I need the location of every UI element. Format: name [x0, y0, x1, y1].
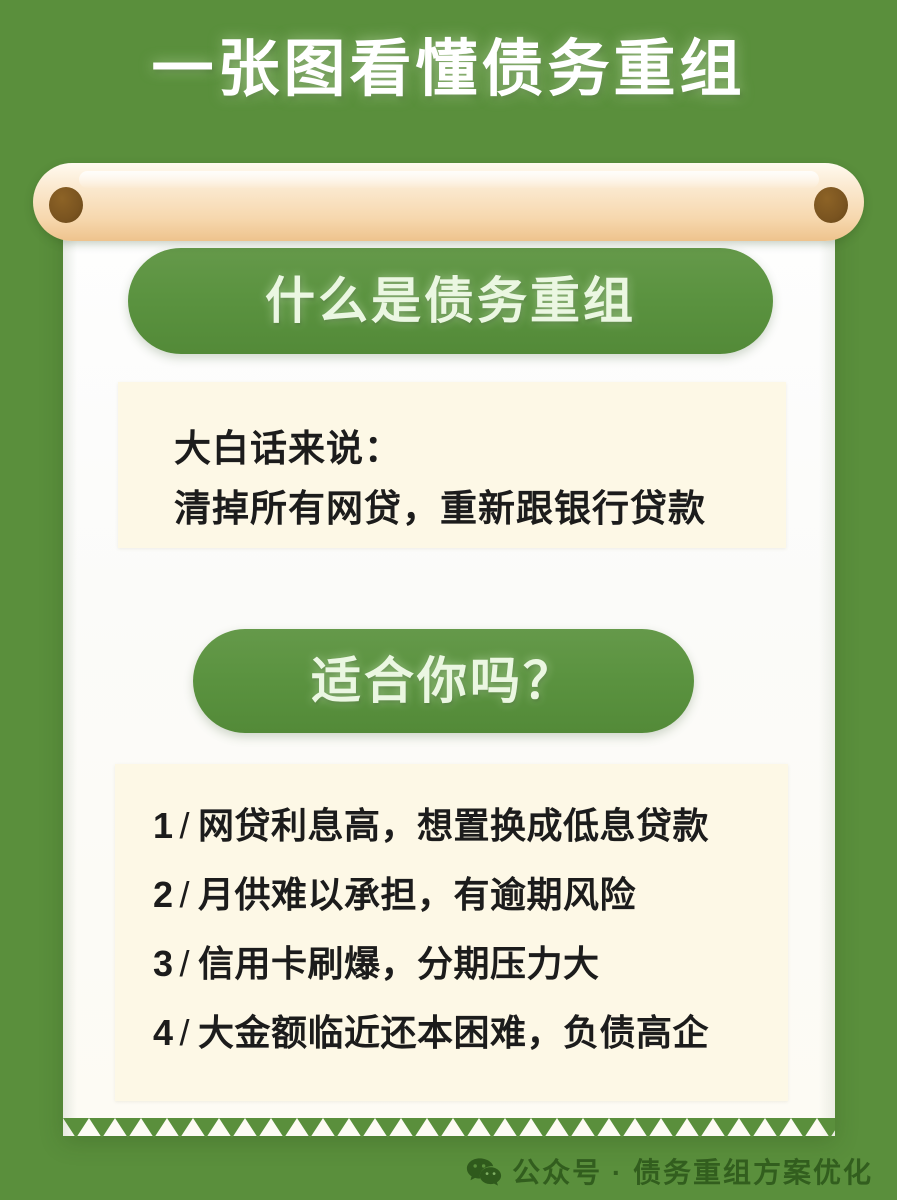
list-item: 2 / 月供难以承担，有逾期风险: [153, 877, 763, 913]
torn-edge-tooth: [505, 1118, 531, 1138]
torn-edge-tooth: [635, 1118, 661, 1138]
torn-edge-tooth: [375, 1118, 401, 1138]
torn-edge-tooth: [661, 1118, 687, 1138]
list-item-number: 4: [153, 1015, 174, 1051]
roller-highlight: [79, 171, 819, 188]
footer-account-name: 公众号 · 债务重组方案优化: [512, 1151, 873, 1191]
torn-edge-tooth: [531, 1118, 557, 1138]
list-item-number: 1: [153, 808, 174, 844]
section-heading-is-it-right-for-you: 适合你吗？: [193, 629, 694, 733]
torn-edge-tooth: [453, 1118, 479, 1138]
torn-edge-tooth: [323, 1118, 349, 1138]
wechat-icon: [466, 1156, 502, 1186]
list-item-number: 2: [153, 877, 174, 913]
torn-edge-tooth: [765, 1118, 791, 1138]
roller-cap-right-icon: [814, 187, 848, 223]
poster-title: 一张图看懂债务重组: [0, 34, 897, 105]
list-item-text: 大金额临近还本困难，负债高企: [198, 1015, 709, 1051]
list-item-number: 3: [153, 946, 174, 982]
torn-edge-tooth: [219, 1118, 245, 1138]
list-item: 1 / 网贷利息高，想置换成低息贷款: [153, 808, 763, 844]
torn-edge-tooth: [63, 1118, 89, 1138]
paper-torn-edge: [63, 1118, 835, 1140]
torn-edge-tooth: [271, 1118, 297, 1138]
paper-right-shadow: [819, 198, 835, 1136]
torn-edge-tooth: [245, 1118, 271, 1138]
roller-cap-left-icon: [49, 187, 83, 223]
list-item-text: 月供难以承担，有逾期风险: [198, 877, 636, 913]
torn-edge-tooth: [401, 1118, 427, 1138]
torn-edge-tooth: [141, 1118, 167, 1138]
torn-edge-tooth: [817, 1118, 835, 1138]
torn-edge-tooth: [739, 1118, 765, 1138]
torn-edge-tooth: [115, 1118, 141, 1138]
paper-left-shadow: [63, 198, 77, 1136]
checklist: 1 / 网贷利息高，想置换成低息贷款 2 / 月供难以承担，有逾期风险 3 / …: [153, 808, 763, 1051]
definition-card: 大白话来说： 清掉所有网贷，重新跟银行贷款: [118, 382, 786, 548]
torn-edge-tooth: [479, 1118, 505, 1138]
footer-watermark: 公众号 · 债务重组方案优化: [466, 1151, 873, 1191]
torn-edge-tooth: [349, 1118, 375, 1138]
list-item: 4 / 大金额临近还本困难，负债高企: [153, 1015, 763, 1051]
torn-edge-tooth: [193, 1118, 219, 1138]
list-item-text: 信用卡刷爆，分期压力大: [198, 946, 600, 982]
list-item-separator: /: [180, 808, 191, 844]
section-heading-what-is-label: 什么是债务重组: [265, 276, 636, 326]
section-heading-what-is-debt-restructuring: 什么是债务重组: [128, 248, 773, 354]
section-heading-fit-label: 适合你吗？: [311, 656, 576, 706]
poster-canvas: 一张图看懂债务重组 什么是债务重组 大白话来说： 清掉所有网贷，重新跟银行贷款 …: [0, 0, 897, 1200]
definition-line-2: 清掉所有网贷，重新跟银行贷款: [174, 478, 706, 532]
torn-edge-tooth: [167, 1118, 193, 1138]
torn-edge-tooth: [427, 1118, 453, 1138]
list-item: 3 / 信用卡刷爆，分期压力大: [153, 946, 763, 982]
poster-title-text: 一张图看懂债务重组: [151, 34, 745, 105]
checklist-card: 1 / 网贷利息高，想置换成低息贷款 2 / 月供难以承担，有逾期风险 3 / …: [115, 764, 788, 1101]
list-item-separator: /: [180, 1015, 191, 1051]
torn-edge-tooth: [297, 1118, 323, 1138]
torn-edge-tooth: [687, 1118, 713, 1138]
torn-edge-tooth: [791, 1118, 817, 1138]
torn-edge-tooth: [557, 1118, 583, 1138]
torn-edge-tooth: [713, 1118, 739, 1138]
definition-line-1: 大白话来说：: [174, 418, 402, 472]
torn-edge-tooth: [583, 1118, 609, 1138]
torn-edge-tooth: [609, 1118, 635, 1138]
list-item-separator: /: [180, 946, 191, 982]
torn-edge-tooth: [89, 1118, 115, 1138]
list-item-text: 网贷利息高，想置换成低息贷款: [198, 808, 709, 844]
paper-roller-bar: [33, 163, 864, 241]
list-item-separator: /: [180, 877, 191, 913]
